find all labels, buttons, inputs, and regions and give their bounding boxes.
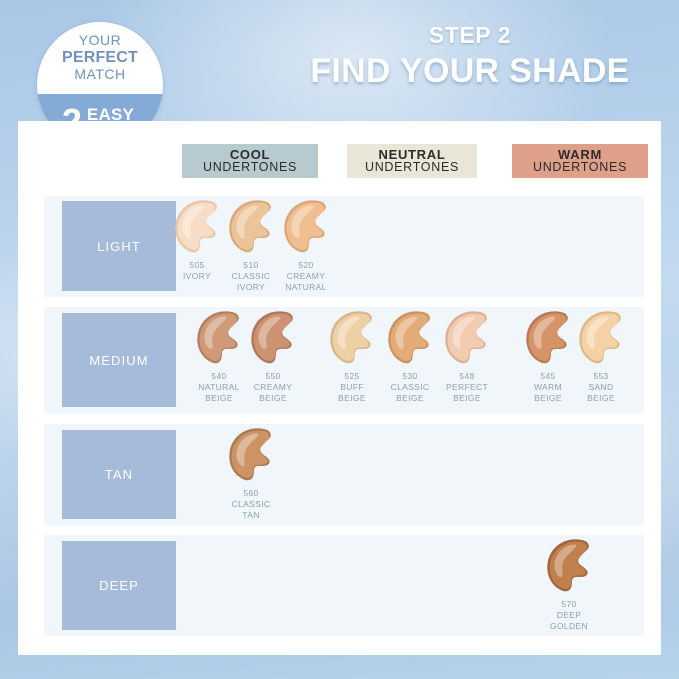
badge-line-your: YOUR — [79, 33, 121, 49]
foundation-smear-icon — [572, 309, 630, 367]
column-header-sub: UNDERTONES — [203, 161, 297, 174]
column-header-name: NEUTRAL — [378, 148, 445, 162]
column-header-name: WARM — [558, 148, 602, 162]
badge-top-text: YOUR PERFECT MATCH — [37, 22, 163, 94]
column-header-name: COOL — [230, 148, 270, 162]
shade-caption: 548PERFECTBEIGE — [434, 371, 500, 405]
foundation-smear-icon — [540, 537, 598, 595]
page-title: FIND YOUR SHADE — [300, 52, 640, 91]
row-label-light: LIGHT — [62, 201, 176, 291]
column-header-cool: COOLUNDERTONES — [182, 144, 318, 178]
shade-swatch-550[interactable]: 550CREAMYBEIGE — [240, 309, 306, 405]
foundation-smear-icon — [244, 309, 302, 367]
column-header-sub: UNDERTONES — [533, 161, 627, 174]
shade-chart-card: COOLUNDERTONESNEUTRALUNDERTONESWARMUNDER… — [18, 121, 661, 655]
shade-swatch-553[interactable]: 553SANDBEIGE — [568, 309, 634, 405]
shade-swatch-560[interactable]: 560CLASSICTAN — [218, 426, 284, 522]
column-header-sub: UNDERTONES — [365, 161, 459, 174]
row-label-deep: DEEP — [62, 541, 176, 630]
column-header-neutral: NEUTRALUNDERTONES — [347, 144, 477, 178]
shade-finder-infographic: YOUR PERFECT MATCH 2 EASY STEPS STEP 2 F… — [0, 0, 679, 679]
title-block: STEP 2 FIND YOUR SHADE — [300, 22, 640, 91]
shade-caption: 560CLASSICTAN — [218, 488, 284, 522]
row-label-tan: TAN — [62, 430, 176, 519]
shade-caption: 553SANDBEIGE — [568, 371, 634, 405]
step-label: STEP 2 — [300, 22, 640, 49]
column-header-warm: WARMUNDERTONES — [512, 144, 648, 178]
shade-swatch-570[interactable]: 570DEEPGOLDEN — [536, 537, 602, 633]
shade-caption: 525BUFFBEIGE — [319, 371, 385, 405]
foundation-smear-icon — [277, 198, 335, 256]
foundation-smear-icon — [222, 198, 280, 256]
shade-caption: 550CREAMYBEIGE — [240, 371, 306, 405]
shade-caption: 520CREAMYNATURAL — [273, 260, 339, 294]
foundation-smear-icon — [323, 309, 381, 367]
shade-swatch-525[interactable]: 525BUFFBEIGE — [319, 309, 385, 405]
row-label-medium: MEDIUM — [62, 313, 176, 407]
badge-line-match: MATCH — [74, 67, 125, 83]
shade-swatch-548[interactable]: 548PERFECTBEIGE — [434, 309, 500, 405]
foundation-smear-icon — [381, 309, 439, 367]
shade-caption: 570DEEPGOLDEN — [536, 599, 602, 633]
foundation-smear-icon — [222, 426, 280, 484]
badge-line-perfect: PERFECT — [62, 49, 138, 67]
shade-swatch-520[interactable]: 520CREAMYNATURAL — [273, 198, 339, 294]
foundation-smear-icon — [438, 309, 496, 367]
